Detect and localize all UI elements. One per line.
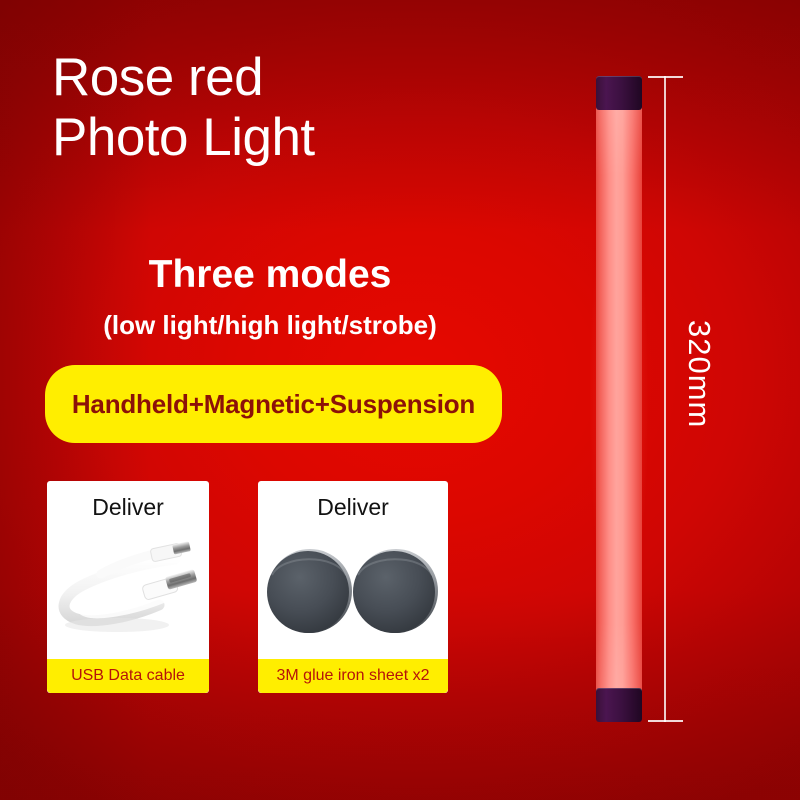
- features-pill-label: Handheld+Magnetic+Suspension: [72, 389, 475, 420]
- features-pill: Handheld+Magnetic+Suspension: [45, 365, 502, 443]
- accessory-card-magnet: Deliver: [258, 481, 448, 693]
- page-title-line2: Photo Light: [52, 108, 315, 168]
- accessory-card-footer-label: 3M glue iron sheet x2: [277, 667, 430, 685]
- accessory-card-title: Deliver: [47, 494, 209, 521]
- magnet-discs-icon: [258, 529, 448, 655]
- light-tube-cap-top: [596, 76, 642, 110]
- light-tube-body: [596, 106, 642, 692]
- dimension-line: [664, 76, 666, 722]
- accessory-card-footer: 3M glue iron sheet x2: [258, 659, 448, 693]
- accessory-card-footer-label: USB Data cable: [71, 667, 185, 685]
- accessory-card-title: Deliver: [258, 494, 448, 521]
- accessory-card-usb: Deliver: [47, 481, 209, 693]
- dimension-tick-bottom: [648, 720, 683, 722]
- light-tube: [596, 76, 642, 722]
- light-tube-cap-bottom: [596, 688, 642, 722]
- page-title: Rose red Photo Light: [52, 48, 315, 168]
- dimension-label: 320mm: [681, 320, 717, 428]
- modes-heading: Three modes: [0, 253, 540, 297]
- usb-cable-icon: [47, 529, 209, 655]
- modes-subheading: (low light/high light/strobe): [0, 310, 540, 341]
- page-title-line1: Rose red: [52, 48, 263, 107]
- accessory-card-footer: USB Data cable: [47, 659, 209, 693]
- product-marketing-image: Rose red Photo Light Three modes (low li…: [0, 0, 800, 800]
